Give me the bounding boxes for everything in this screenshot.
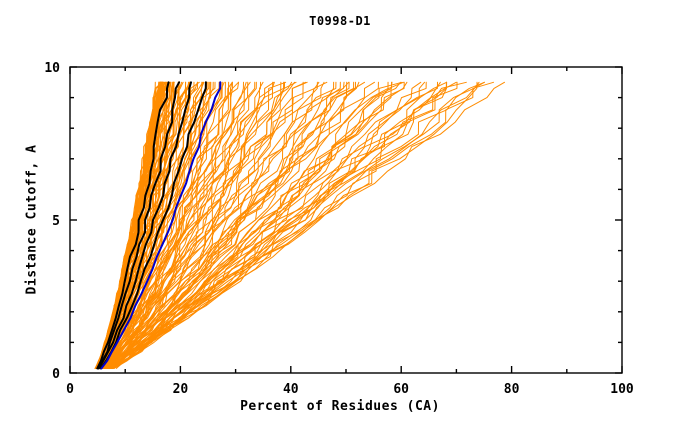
x-tick-label: 40 — [283, 382, 299, 397]
x-tick-labels: 020406080100 — [66, 382, 634, 397]
y-tick-label: 10 — [44, 61, 60, 76]
x-tick-label: 0 — [66, 382, 74, 397]
x-tick-label: 20 — [173, 382, 189, 397]
y-tick-label: 5 — [52, 214, 60, 229]
y-tick-labels: 0510 — [44, 61, 60, 382]
curves-canvas — [70, 67, 622, 373]
x-tick-label: 60 — [393, 382, 409, 397]
page-title: T0998-D1 — [0, 14, 680, 28]
orange-model-curve — [113, 82, 485, 368]
x-axis-label: Percent of Residues (CA) — [0, 399, 680, 414]
y-tick-label: 0 — [52, 367, 60, 382]
plot-area — [70, 67, 622, 373]
x-tick-label: 100 — [610, 382, 634, 397]
chart-page: T0998-D1 020406080100 0510 Percent of Re… — [0, 0, 680, 440]
y-axis-label: Distance Cutoff, A — [25, 105, 40, 335]
x-tick-label: 80 — [504, 382, 520, 397]
